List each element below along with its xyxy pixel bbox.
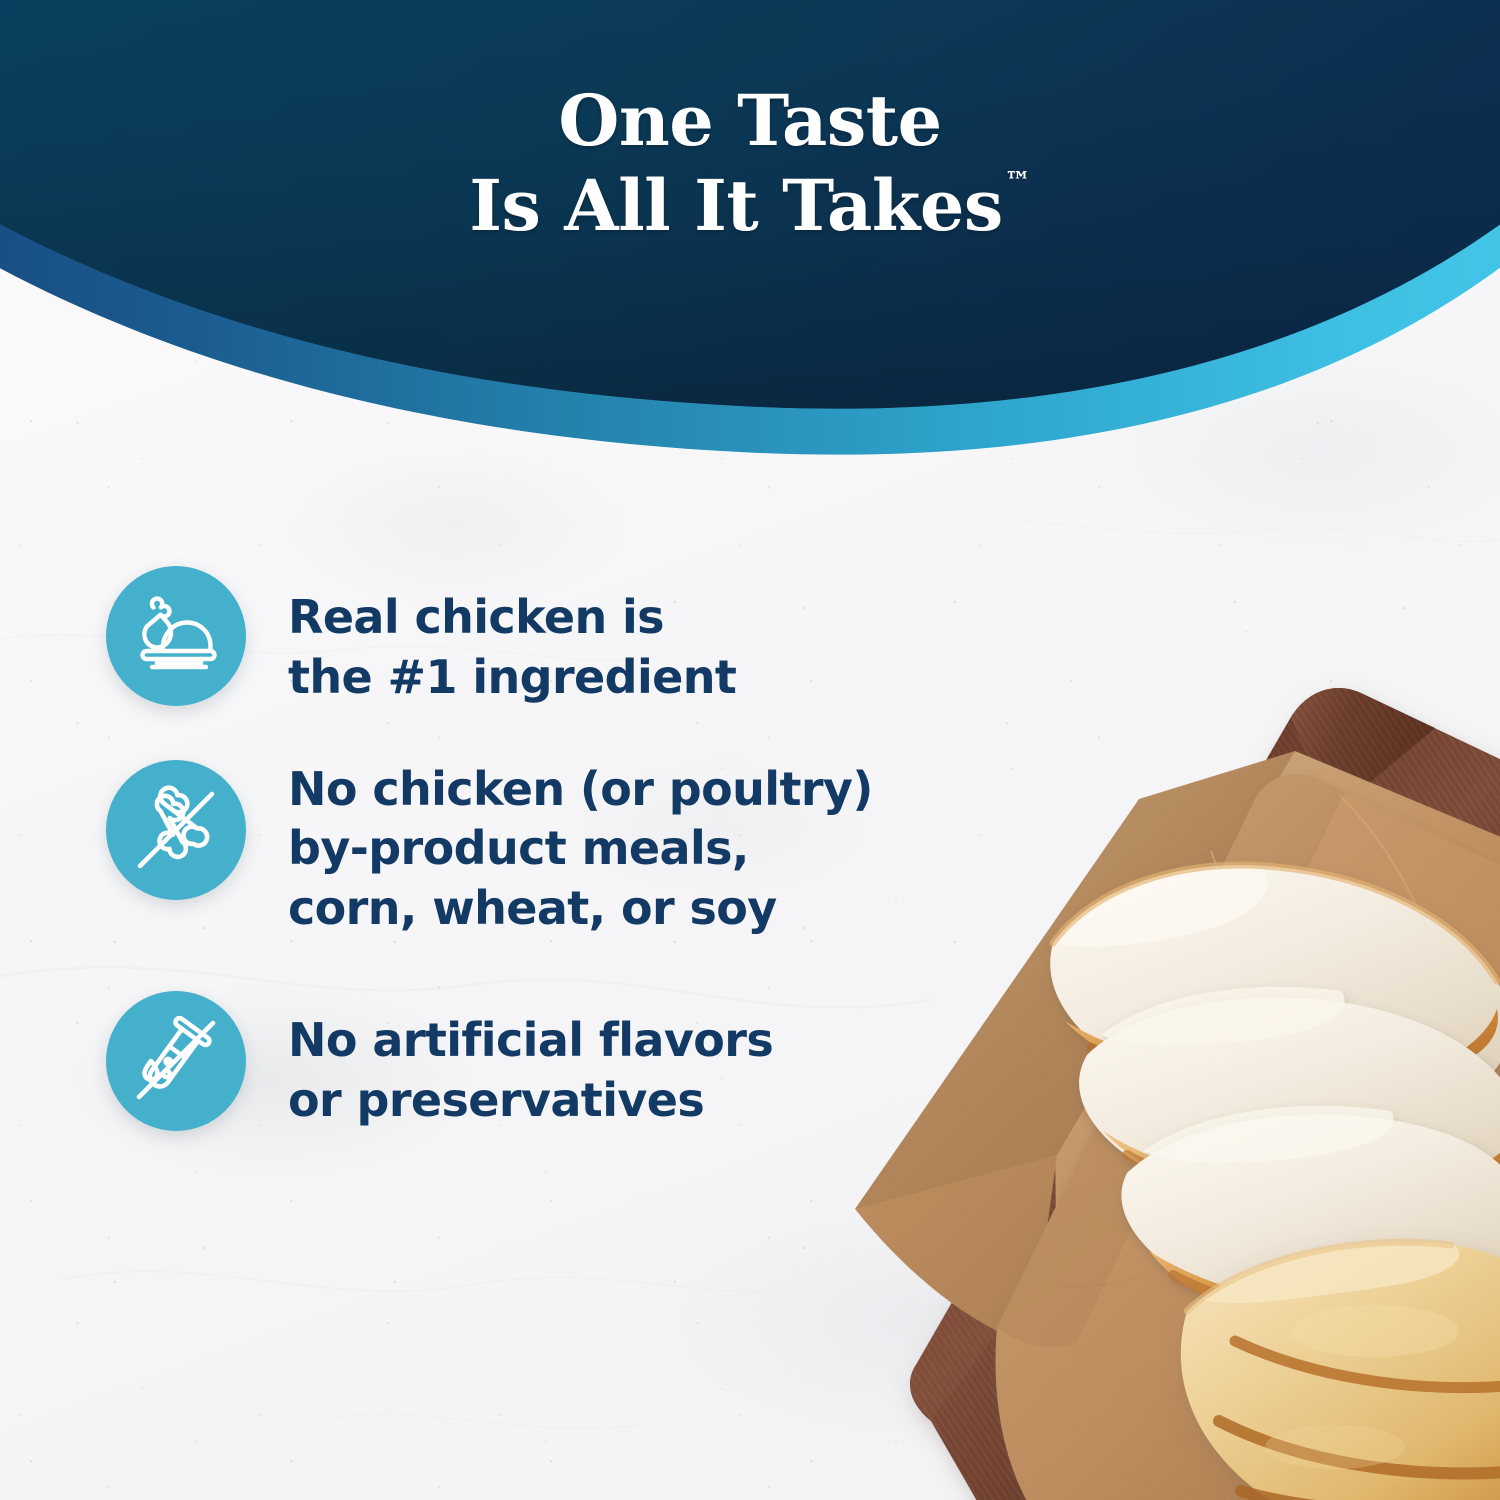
no-bone-icon: [106, 760, 246, 900]
headline-line-2: Is All It Takes: [469, 164, 1003, 247]
benefit-text: Real chicken is the #1 ingredient: [288, 566, 736, 708]
benefit-item: No artificial flavors or preservatives: [106, 991, 906, 1131]
no-test-tube-icon: [106, 991, 246, 1131]
product-feature-graphic: One Taste Is All It Takes™: [0, 0, 1500, 1500]
benefit-text: No chicken (or poultry) by-product meals…: [288, 760, 873, 939]
page-title: One Taste Is All It Takes™: [0, 78, 1500, 249]
benefit-item: No chicken (or poultry) by-product meals…: [106, 760, 906, 939]
header-band: One Taste Is All It Takes™: [0, 0, 1500, 470]
benefit-text: No artificial flavors or preservatives: [288, 991, 773, 1131]
trademark-symbol: ™: [1005, 167, 1031, 197]
headline-line-1: One Taste: [558, 79, 941, 162]
benefits-list: Real chicken is the #1 ingredient: [106, 566, 906, 1131]
roast-chicken-platter-icon: [106, 566, 246, 706]
benefit-item: Real chicken is the #1 ingredient: [106, 566, 906, 708]
